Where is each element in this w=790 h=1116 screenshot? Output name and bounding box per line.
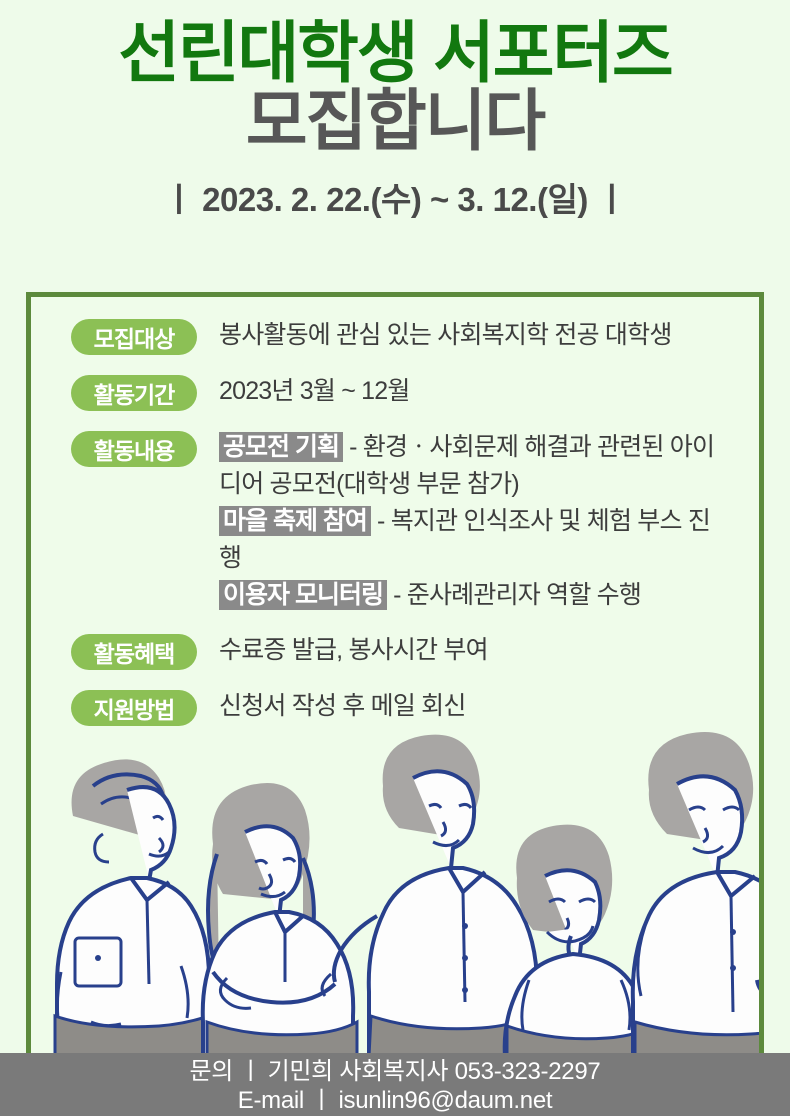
activity-item-1: 공모전 기획 - 환경ㆍ사회문제 해결과 관련된 아이디어 공모전(대학생 부문… [219, 429, 729, 503]
info-text-benefits: 수료증 발급, 봉사시간 부여 [219, 632, 488, 669]
info-text-period: 2023년 3월 ~ 12월 [219, 373, 410, 410]
info-text-apply: 신청서 작성 후 메일 회신 [219, 688, 466, 725]
activity-item-3: 이용자 모니터링 - 준사례관리자 역할 수행 [219, 577, 729, 614]
info-row-activities: 활동내용 공모전 기획 - 환경ㆍ사회문제 해결과 관련된 아이디어 공모전(대… [31, 429, 764, 614]
info-text-target: 봉사활동에 관심 있는 사회복지학 전공 대학생 [219, 317, 672, 354]
footer-contact-line: 문의 ㅣ 기민희 사회복지사 053-323-2297 [0, 1058, 790, 1087]
poster-header: 선린대학생 서포터즈 모집합니다 ㅣ 2023. 2. 22.(수) ~ 3. … [0, 0, 790, 221]
activity-item-2: 마을 축제 참여 - 복지관 인식조사 및 체험 부스 진행 [219, 503, 729, 577]
info-row-apply: 지원방법 신청서 작성 후 메일 회신 [31, 688, 764, 726]
illustration-figures [55, 732, 764, 1056]
figure-1 [55, 759, 209, 1056]
activity-highlight-1: 공모전 기획 [219, 432, 343, 462]
info-row-target: 모집대상 봉사활동에 관심 있는 사회복지학 전공 대학생 [31, 317, 764, 355]
content-frame: 모집대상 봉사활동에 관심 있는 사회복지학 전공 대학생 활동기간 2023년… [26, 292, 764, 1058]
activity-highlight-2: 마을 축제 참여 [219, 506, 371, 536]
label-pill-target: 모집대상 [71, 319, 197, 355]
activity-desc-3: - 준사례관리자 역할 수행 [387, 581, 641, 609]
title-line-2: 모집합니다 [0, 86, 790, 158]
figure-2 [203, 783, 357, 1056]
label-pill-period: 활동기간 [71, 375, 197, 411]
info-list: 모집대상 봉사활동에 관심 있는 사회복지학 전공 대학생 활동기간 2023년… [31, 297, 764, 744]
figure-5 [633, 732, 764, 1056]
poster-root: 선린대학생 서포터즈 모집합니다 ㅣ 2023. 2. 22.(수) ~ 3. … [0, 0, 790, 1116]
info-text-activities: 공모전 기획 - 환경ㆍ사회문제 해결과 관련된 아이디어 공모전(대학생 부문… [219, 429, 729, 614]
poster-footer: 문의 ㅣ 기민희 사회복지사 053-323-2297 E-mail ㅣ isu… [0, 1053, 790, 1116]
label-pill-apply: 지원방법 [71, 690, 197, 726]
recruitment-date-range: ㅣ 2023. 2. 22.(수) ~ 3. 12.(일) ㅣ [0, 173, 790, 221]
label-pill-benefits: 활동혜택 [71, 634, 197, 670]
label-pill-activities: 활동내용 [71, 431, 197, 467]
footer-email-line: E-mail ㅣ isunlin96@daum.net [0, 1087, 790, 1116]
illustration-svg [31, 726, 764, 1056]
title-line-1: 선린대학생 서포터즈 [0, 18, 790, 90]
students-group-illustration [31, 726, 764, 1056]
info-row-period: 활동기간 2023년 3월 ~ 12월 [31, 373, 764, 411]
activity-highlight-3: 이용자 모니터링 [219, 580, 387, 610]
info-row-benefits: 활동혜택 수료증 발급, 봉사시간 부여 [31, 632, 764, 670]
